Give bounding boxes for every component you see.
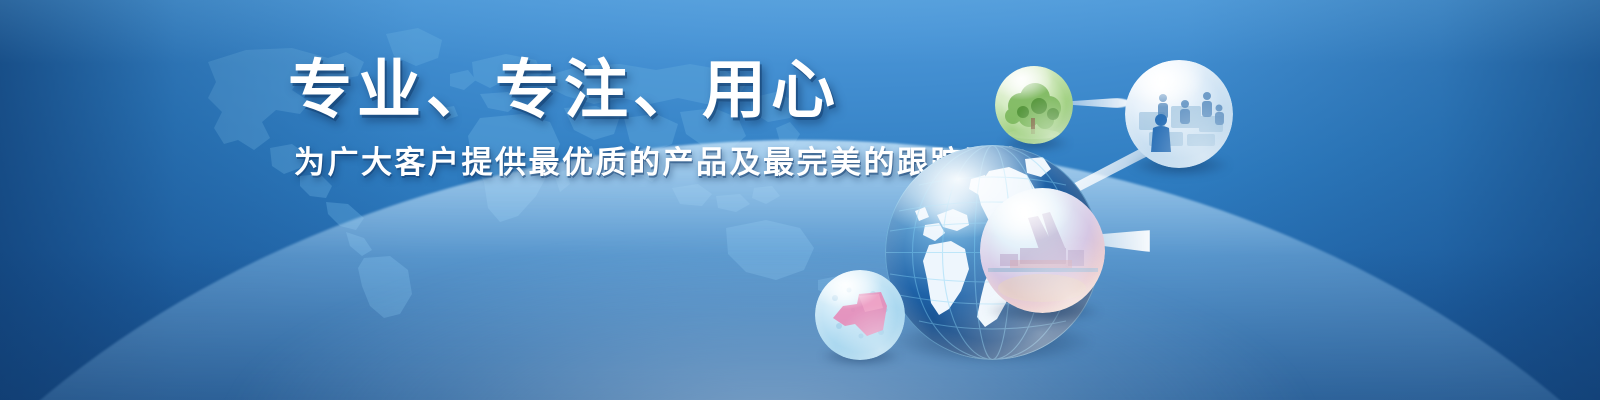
- nature-sphere: [995, 66, 1073, 144]
- map-sphere: [815, 270, 905, 360]
- connector-nature-to-people: [1066, 97, 1132, 109]
- sphere-cluster: [830, 40, 1370, 370]
- industry-sphere-gloss: [980, 188, 1105, 313]
- nature-sphere-gloss: [995, 66, 1073, 144]
- people-sphere: [1125, 60, 1233, 168]
- industry-sphere: [980, 188, 1105, 313]
- people-sphere-gloss: [1125, 60, 1233, 168]
- map-sphere-gloss: [815, 270, 905, 360]
- promo-banner: 专业、专注、用心 为广大客户提供最优质的产品及最完美的跟踪服务: [0, 0, 1600, 400]
